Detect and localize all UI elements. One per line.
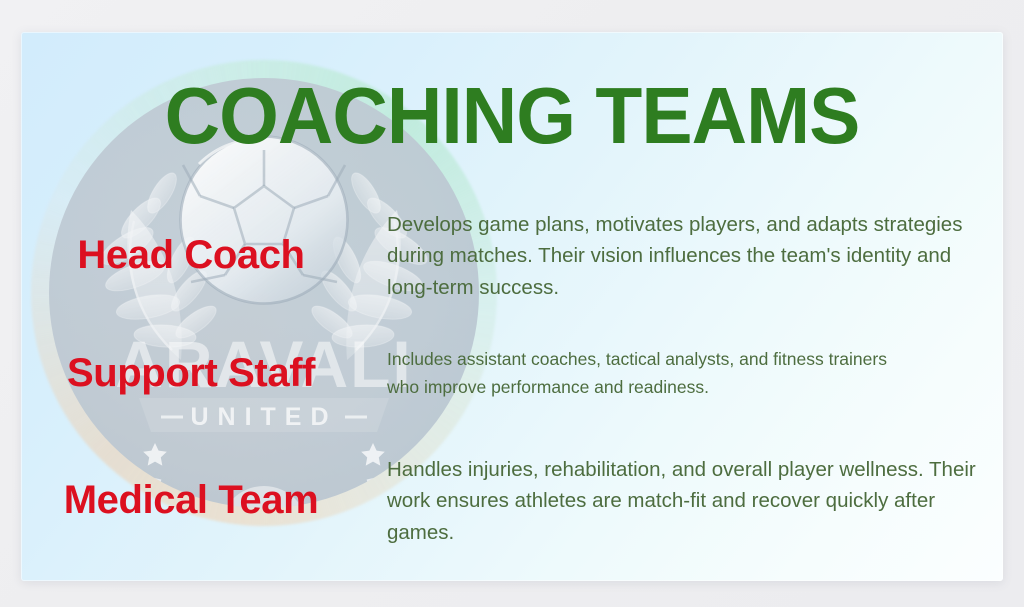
role-description-cell-0: Develops game plans, motivates players, … — [369, 209, 1003, 302]
role-description-cell-1: Includes assistant coaches, tactical ana… — [369, 346, 1003, 401]
content-row-head-coach: Head Coach Develops game plans, motivate… — [21, 200, 1003, 312]
role-label-head-coach: Head Coach — [77, 234, 304, 277]
content-row-support-staff: Support Staff Includes assistant coaches… — [21, 324, 1003, 424]
role-description-cell-2: Handles injuries, rehabilitation, and ov… — [369, 454, 1003, 547]
role-label-cell-2: Medical Team — [21, 479, 369, 522]
role-label-medical-team: Medical Team — [64, 479, 319, 522]
role-label-cell-1: Support Staff — [21, 352, 369, 395]
page-title: COACHING TEAMS — [41, 76, 984, 156]
role-label-support-staff: Support Staff — [67, 352, 315, 395]
role-description-medical-team: Handles injuries, rehabilitation, and ov… — [387, 454, 985, 547]
role-description-support-staff: Includes assistant coaches, tactical ana… — [387, 346, 887, 401]
slide-card: ARAVALI UNITED — [21, 32, 1003, 581]
role-description-head-coach: Develops game plans, motivates players, … — [387, 209, 985, 302]
content-row-medical-team: Medical Team Handles injuries, rehabilit… — [21, 442, 1003, 560]
role-label-cell-0: Head Coach — [21, 234, 369, 277]
page-background: ARAVALI UNITED — [0, 0, 1024, 607]
